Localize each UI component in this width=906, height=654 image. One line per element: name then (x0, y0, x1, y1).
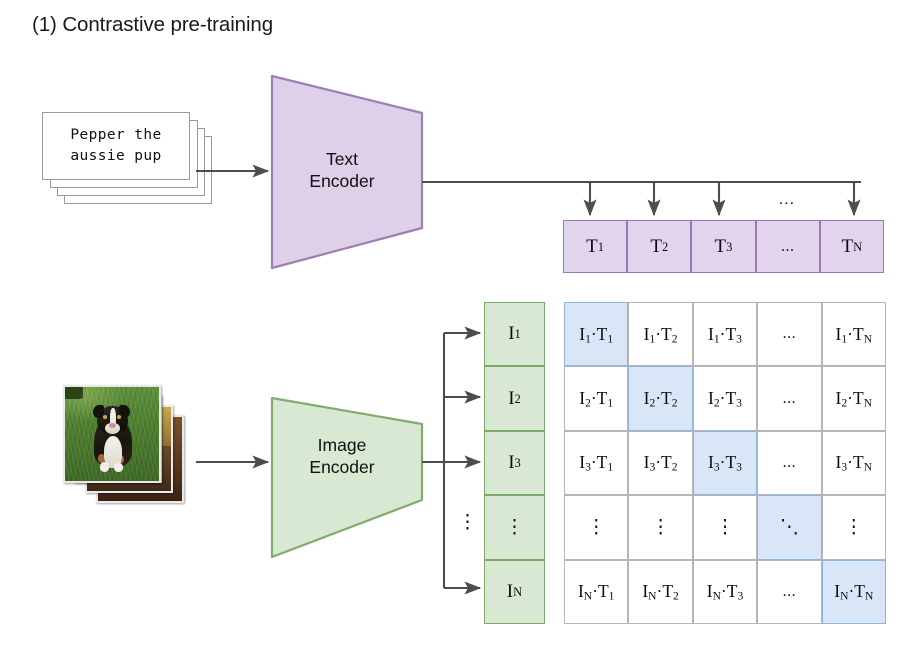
similarity-cell-r4-c4[interactable]: ⋱ (757, 495, 821, 559)
text-embedding-cell-N[interactable]: TN (820, 220, 884, 273)
page-title: (1) Contrastive pre-training (32, 13, 273, 37)
diagram-canvas: (1) Contrastive pre-training Pepper the … (0, 0, 906, 654)
text-caption-label: Pepper the aussie pup (70, 125, 161, 167)
similarity-cell-label: I1·T2 (644, 324, 678, 345)
image-embedding-3-base: I (508, 452, 514, 474)
similarity-cell-label: I2·T1 (579, 388, 613, 409)
similarity-cell-r2-c2[interactable]: I2·T2 (628, 366, 692, 430)
text-embedding-ellipsis-label: ... (781, 238, 795, 256)
similarity-cell-label: ⋮ (587, 519, 606, 536)
image-embedding-cell-2[interactable]: I2 (484, 366, 545, 430)
image-bus-ellipsis: ⋮ (458, 514, 477, 531)
similarity-cell-r2-c1[interactable]: I2·T1 (564, 366, 628, 430)
similarity-cell-label: ... (783, 390, 797, 408)
text-embedding-cell-ellipsis[interactable]: ... (756, 220, 820, 273)
similarity-cell-r2-c5[interactable]: I2·TN (822, 366, 886, 430)
puppy-eye-right (117, 415, 121, 419)
puppy-paw-right (114, 463, 123, 471)
similarity-cell-label: I3·T3 (708, 452, 742, 473)
text-encoder-label: Text Encoder (272, 148, 412, 192)
text-embedding-3-base: T (715, 236, 727, 258)
photo-shadow-corner (63, 385, 83, 399)
text-embedding-cell-2[interactable]: T2 (627, 220, 691, 273)
similarity-cell-label: I3·TN (836, 452, 872, 473)
similarity-cell-label: IN·T1 (578, 581, 614, 602)
similarity-cell-label: ... (783, 583, 797, 601)
similarity-cell-label: I3·T1 (579, 452, 613, 473)
similarity-cell-label: I2·T3 (708, 388, 742, 409)
similarity-cell-label: ⋮ (844, 519, 863, 536)
similarity-cell-r5-c2[interactable]: IN·T2 (628, 560, 692, 624)
similarity-cell-r2-c3[interactable]: I2·T3 (693, 366, 757, 430)
similarity-cell-r3-c4[interactable]: ... (757, 431, 821, 495)
similarity-cell-r1-c5[interactable]: I1·TN (822, 302, 886, 366)
image-embedding-cell-1[interactable]: I1 (484, 302, 545, 366)
text-embedding-2-base: T (650, 236, 662, 258)
text-embedding-1-base: T (586, 236, 598, 258)
similarity-cell-r1-c2[interactable]: I1·T2 (628, 302, 692, 366)
image-encoder-label: Image Encoder (272, 434, 412, 478)
similarity-cell-label: I1·TN (836, 324, 872, 345)
similarity-cell-r1-c1[interactable]: I1·T1 (564, 302, 628, 366)
similarity-cell-label: I2·T2 (644, 388, 678, 409)
similarity-cell-r1-c3[interactable]: I1·T3 (693, 302, 757, 366)
similarity-cell-label: IN·T3 (707, 581, 743, 602)
similarity-cell-label: ⋮ (651, 519, 670, 536)
similarity-cell-r3-c3[interactable]: I3·T3 (693, 431, 757, 495)
image-embedding-cell-N[interactable]: IN (484, 560, 545, 624)
similarity-cell-r5-c4[interactable]: ... (757, 560, 821, 624)
text-embedding-cell-3[interactable]: T3 (691, 220, 755, 273)
text-caption-card-front: Pepper the aussie pup (42, 112, 190, 180)
similarity-cell-r4-c2[interactable]: ⋮ (628, 495, 692, 559)
similarity-cell-label: I3·T2 (644, 452, 678, 473)
similarity-cell-r5-c5[interactable]: IN·TN (822, 560, 886, 624)
image-embedding-1-base: I (508, 323, 514, 345)
puppy-paw-left (100, 462, 109, 471)
similarity-cell-label: ... (783, 454, 797, 472)
similarity-cell-r5-c3[interactable]: IN·T3 (693, 560, 757, 624)
image-embedding-ellipsis-label: ⋮ (505, 519, 524, 536)
text-embedding-N-base: T (842, 236, 854, 258)
image-thumbnail-stack (63, 385, 193, 515)
image-embedding-cell-ellipsis[interactable]: ⋮ (484, 495, 545, 559)
similarity-cell-r4-c3[interactable]: ⋮ (693, 495, 757, 559)
similarity-cell-r3-c1[interactable]: I3·T1 (564, 431, 628, 495)
similarity-cell-label: I2·TN (836, 388, 872, 409)
text-embedding-row-ellipsis: ... (779, 191, 795, 209)
image-embedding-2-base: I (508, 388, 514, 410)
similarity-cell-r1-c4[interactable]: ... (757, 302, 821, 366)
image-thumbnail-front (63, 385, 161, 483)
similarity-cell-r4-c5[interactable]: ⋮ (822, 495, 886, 559)
similarity-cell-label: I1·T1 (579, 324, 613, 345)
similarity-cell-r2-c4[interactable]: ... (757, 366, 821, 430)
similarity-cell-r3-c2[interactable]: I3·T2 (628, 431, 692, 495)
similarity-cell-label: IN·TN (834, 581, 873, 602)
similarity-cell-r4-c1[interactable]: ⋮ (564, 495, 628, 559)
similarity-cell-r5-c1[interactable]: IN·T1 (564, 560, 628, 624)
text-caption-stack: Pepper the aussie pup (42, 112, 242, 222)
similarity-cell-label: ⋮ (715, 519, 734, 536)
similarity-cell-label: I1·T3 (708, 324, 742, 345)
similarity-cell-r3-c5[interactable]: I3·TN (822, 431, 886, 495)
text-embedding-cell-1[interactable]: T1 (563, 220, 627, 273)
image-encoder-shape (272, 398, 422, 557)
image-embedding-cell-3[interactable]: I3 (484, 431, 545, 495)
text-encoder-shape (272, 76, 422, 268)
similarity-cell-label: ⋱ (780, 519, 799, 536)
similarity-cell-label: ... (783, 325, 797, 343)
similarity-cell-label: IN·T2 (642, 581, 678, 602)
